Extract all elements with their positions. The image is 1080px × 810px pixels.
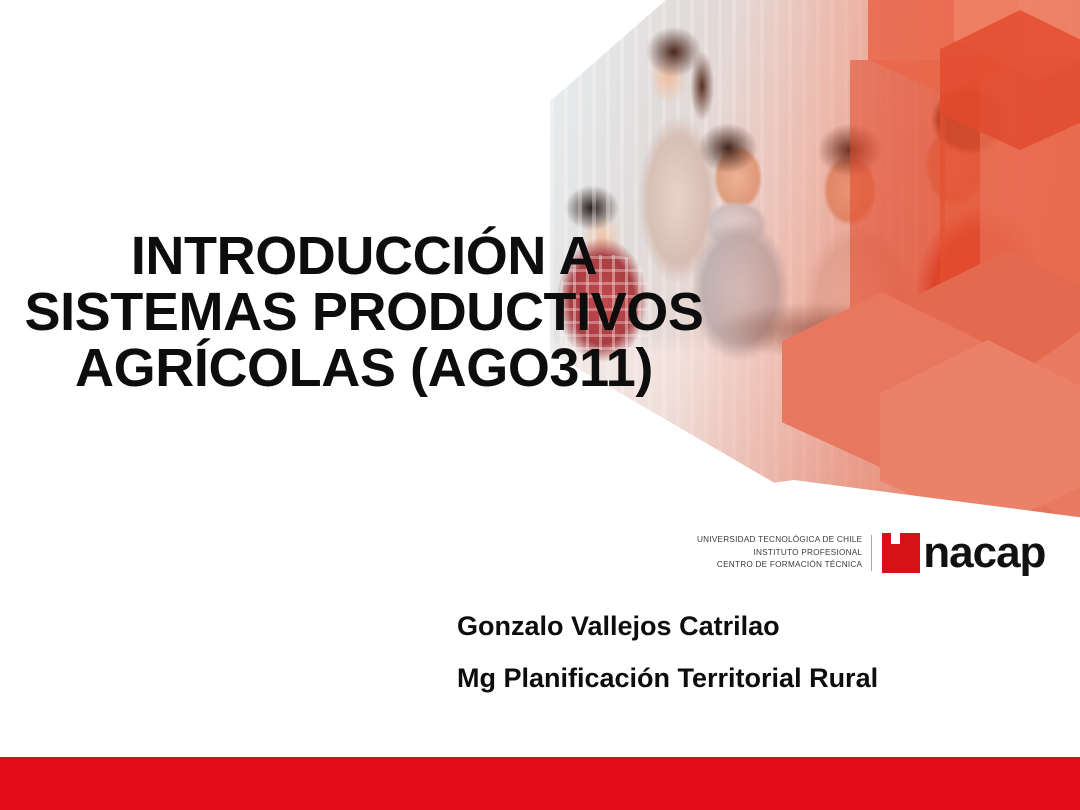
- author-block: Gonzalo Vallejos Catrilao Mg Planificaci…: [457, 600, 878, 704]
- page-title: INTRODUCCIÓN A SISTEMAS PRODUCTIVOS AGRÍ…: [0, 228, 728, 396]
- logo-wordmark: nacap: [923, 533, 1045, 573]
- inacap-logo: UNIVERSIDAD TECNOLÓGICA DE CHILE INSTITU…: [697, 533, 1045, 573]
- inacap-square-i-icon: [882, 533, 920, 573]
- title-line-2: SISTEMAS PRODUCTIVOS: [0, 284, 728, 340]
- logo-institution-names: UNIVERSIDAD TECNOLÓGICA DE CHILE INSTITU…: [697, 534, 871, 571]
- author-credential: Mg Planificación Territorial Rural: [457, 652, 878, 704]
- footer-red-band: [0, 757, 1080, 810]
- logo-name-line-1: UNIVERSIDAD TECNOLÓGICA DE CHILE: [697, 534, 862, 546]
- logo-divider: [871, 535, 872, 571]
- author-name: Gonzalo Vallejos Catrilao: [457, 600, 878, 652]
- presentation-slide: INTRODUCCIÓN A SISTEMAS PRODUCTIVOS AGRÍ…: [0, 0, 1080, 810]
- logo-name-line-2: INSTITUTO PROFESIONAL: [697, 547, 862, 559]
- title-line-3: AGRÍCOLAS (AGO311): [0, 340, 728, 396]
- title-line-1: INTRODUCCIÓN A: [0, 228, 728, 284]
- logo-name-line-3: CENTRO DE FORMACIÓN TÉCNICA: [697, 559, 862, 571]
